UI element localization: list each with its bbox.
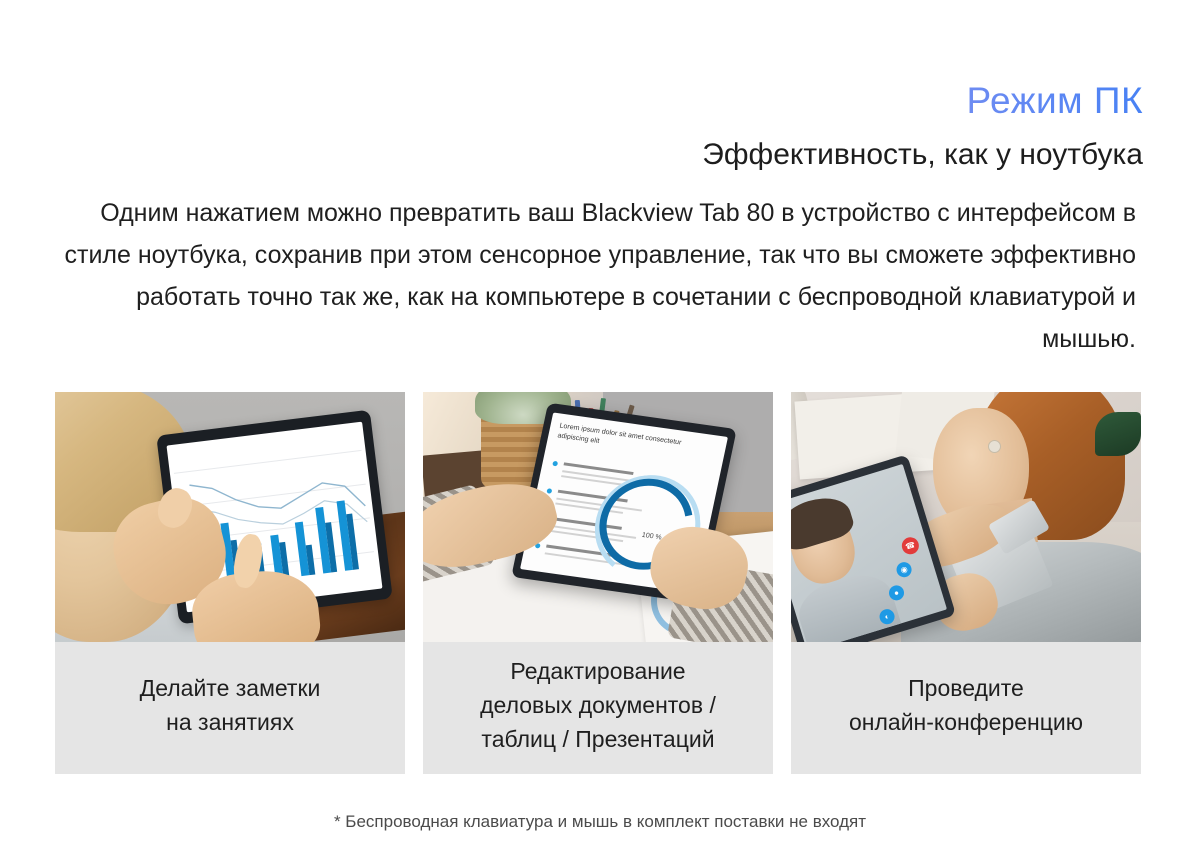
hero-description: Одним нажатием можно превратить ваш Blac… xyxy=(60,192,1140,360)
page-title: Режим ПК xyxy=(0,78,1200,124)
end-call-icon[interactable]: ☎ xyxy=(900,535,921,556)
feature-card-caption: Редактирование деловых документов / табл… xyxy=(423,642,773,774)
photo-boy-tablet-chart xyxy=(55,392,405,642)
camera-icon[interactable]: ◉ xyxy=(895,560,914,579)
hero-header: Режим ПК Эффективность, как у ноутбука О… xyxy=(0,0,1200,360)
feature-card-list: Делайте заметки на занятиях Analysis xyxy=(55,392,1143,774)
feature-card-caption: Делайте заметки на занятиях xyxy=(55,642,405,774)
page-subtitle: Эффективность, как у ноутбука xyxy=(0,136,1200,174)
feature-card: Делайте заметки на занятиях xyxy=(55,392,405,774)
feature-card-caption: Проведите онлайн-конференцию xyxy=(791,642,1141,774)
earring xyxy=(988,440,1001,453)
photo-hands-tablet-presentation: Analysis Lorem ipsum dolor sit amet cons… xyxy=(423,392,773,642)
slide-title: Lorem ipsum dolor sit amet consectetur a… xyxy=(556,422,714,463)
feature-card: Analysis Lorem ipsum dolor sit amet cons… xyxy=(423,392,773,774)
photo-woman-video-call: ☎ ◉ ● ◐ xyxy=(791,392,1141,642)
feature-card: ☎ ◉ ● ◐ Проведите онлайн-конференцию xyxy=(791,392,1141,774)
disclaimer-footnote: * Беспроводная клавиатура и мышь в компл… xyxy=(0,812,1200,832)
